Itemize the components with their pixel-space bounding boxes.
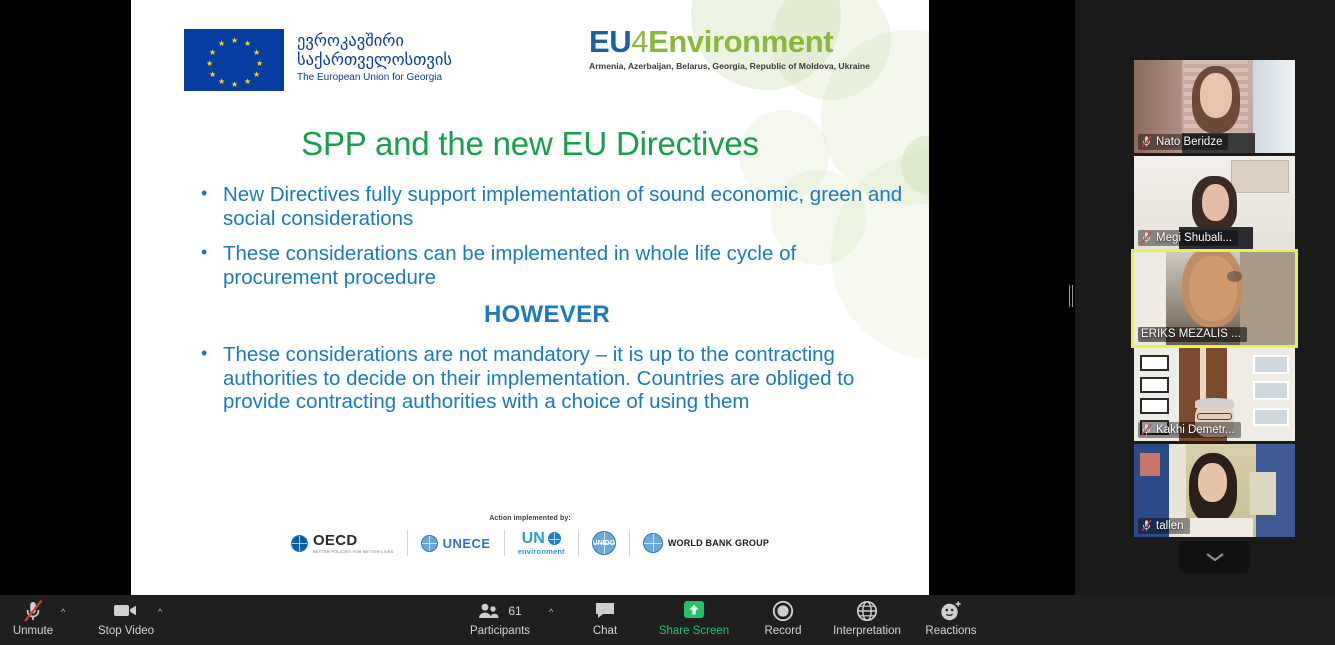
toolbar-interpretation-label: Interpretation [833, 625, 901, 637]
unido-name: UNIDO [593, 540, 616, 547]
panel-resize-handle[interactable] [1067, 285, 1075, 307]
participant-name-tag: tallen [1138, 518, 1190, 534]
brand-countries-text: Armenia, Azerbaijan, Belarus, Georgia, R… [589, 61, 870, 71]
shared-screen-stage: ★ ★ ★ ★ ★ ★ ★ ★ ★ ★ ★ ★ ევროკავშირ [0, 0, 1069, 595]
globe-icon [856, 598, 878, 623]
filmstrip-scroll-down-button[interactable] [1179, 541, 1250, 573]
toolbar-share-screen-button[interactable]: Share Screen [651, 598, 737, 637]
participant-name: ERIKS MEZALIS ... [1141, 328, 1241, 340]
participant-name-tag: ERIKS MEZALIS ... [1138, 327, 1247, 342]
presentation-slide: ★ ★ ★ ★ ★ ★ ★ ★ ★ ★ ★ ★ ევროკავშირ [131, 0, 929, 595]
slide-body: New Directives fully support implementat… [191, 183, 903, 426]
toolbar-interpretation-button[interactable]: Interpretation [824, 598, 910, 637]
slide-bullet: New Directives fully support implementat… [191, 183, 903, 230]
un-environment-logo: UN environment [505, 531, 578, 556]
participant-name: Nato Beridze [1156, 136, 1222, 148]
toolbar-stop-video-label: Stop Video [98, 625, 154, 637]
slide-bullet: These considerations can be implemented … [191, 242, 903, 289]
brand-eu-text: EU [589, 24, 631, 59]
un-environment-tagline: environment [518, 547, 565, 556]
video-options-caret-icon[interactable]: ^ [158, 607, 162, 617]
oecd-name: OECD [313, 532, 394, 549]
unece-name: UNECE [443, 536, 491, 551]
chat-bubble-icon [594, 598, 616, 623]
un-name: UN [522, 531, 545, 547]
toolbar-chat-button[interactable]: Chat [562, 598, 648, 637]
eu-flag-icon: ★ ★ ★ ★ ★ ★ ★ ★ ★ ★ ★ ★ [184, 29, 284, 91]
eu-logo-en-line: The European Union for Georgia [297, 72, 452, 83]
toolbar-stop-video-button[interactable]: Stop Video [83, 598, 169, 637]
mic-muted-icon [1141, 231, 1152, 244]
eu-logo-ka-line2: საქართველოსთვის [297, 50, 452, 69]
toolbar-reactions-label: Reactions [925, 625, 976, 637]
toolbar-unmute-button[interactable]: Unmute [0, 598, 76, 637]
participant-name: Kakhi Demetr... [1156, 424, 1235, 436]
participant-name: tallen [1156, 520, 1184, 532]
slide-emphasis: HOWEVER [191, 301, 903, 329]
toolbar-chat-label: Chat [593, 625, 617, 637]
world-bank-name: WORLD BANK GROUP [668, 538, 769, 548]
toolbar-record-button[interactable]: Record [740, 598, 826, 637]
video-tile-tallen[interactable]: tallen [1134, 444, 1295, 537]
globe-icon [291, 535, 308, 552]
audio-options-caret-icon[interactable]: ^ [61, 607, 65, 617]
video-tile-nato-beridze[interactable]: Nato Beridze [1134, 60, 1295, 153]
world-bank-group-logo: WORLD BANK GROUP [630, 533, 782, 553]
toolbar-participants-button[interactable]: 61 Participants [457, 598, 543, 637]
smiley-plus-icon [939, 598, 963, 623]
participants-options-caret-icon[interactable]: ^ [549, 607, 553, 617]
slide-footer: Action implemented by: OECD BETTER POLIC… [131, 515, 929, 556]
participant-name-tag: Megi Shubali... [1138, 230, 1238, 246]
eu4environment-logo: EU4Environment Armenia, Azerbaijan, Bela… [589, 24, 870, 71]
participants-count: 61 [508, 604, 521, 618]
globe-icon [643, 533, 663, 553]
microphone-muted-icon [23, 598, 43, 623]
camera-icon [113, 598, 139, 623]
participant-filmstrip[interactable]: Nato Beridze Megi Shubali... [1075, 0, 1335, 595]
mic-muted-icon [1141, 135, 1152, 148]
oecd-tagline: BETTER POLICIES FOR BETTER LIVES [313, 549, 394, 554]
globe-icon: UNIDO [592, 531, 616, 555]
participants-icon: 61 [478, 598, 521, 623]
unido-logo: UNIDO [579, 531, 629, 555]
toolbar-share-screen-label: Share Screen [659, 625, 729, 637]
toolbar-participants-label: Participants [470, 625, 530, 637]
toolbar-reactions-button[interactable]: Reactions [908, 598, 994, 637]
video-tile-eriks-mezalis[interactable]: ERIKS MEZALIS ... [1134, 252, 1295, 345]
slide-bullet: These considerations are not mandatory –… [191, 343, 903, 414]
toolbar-unmute-label: Unmute [13, 625, 53, 637]
mic-muted-icon [1141, 423, 1152, 436]
unece-logo: UNECE [408, 535, 504, 552]
oecd-logo: OECD BETTER POLICIES FOR BETTER LIVES [278, 532, 407, 554]
mic-muted-icon [1141, 519, 1152, 532]
slide-title: SPP and the new EU Directives [131, 125, 929, 163]
eu-logo-ka-line1: ევროკავშირი [297, 31, 452, 50]
participant-name-tag: Kakhi Demetr... [1138, 422, 1241, 438]
chevron-down-icon [1204, 551, 1226, 563]
participant-name-tag: Nato Beridze [1138, 134, 1228, 150]
brand-four-text: 4 [631, 24, 648, 59]
footer-caption: Action implemented by: [131, 515, 929, 522]
eu-georgia-logo: ★ ★ ★ ★ ★ ★ ★ ★ ★ ★ ★ ★ ევროკავშირ [184, 29, 452, 91]
video-tile-kakhi-demetr[interactable]: Kakhi Demetr... [1134, 348, 1295, 441]
record-icon [772, 598, 794, 623]
globe-icon [421, 535, 438, 552]
meeting-toolbar: Unmute ^ Stop Video ^ 61 [0, 595, 1335, 645]
video-tile-megi-shubali[interactable]: Megi Shubali... [1134, 156, 1295, 249]
participant-name: Megi Shubali... [1156, 232, 1232, 244]
share-screen-icon [680, 598, 708, 623]
globe-icon [548, 532, 561, 545]
zoom-meeting-window: ★ ★ ★ ★ ★ ★ ★ ★ ★ ★ ★ ★ ევროკავშირ [0, 0, 1335, 645]
brand-environment-text: Environment [648, 24, 833, 59]
toolbar-record-label: Record [764, 625, 801, 637]
